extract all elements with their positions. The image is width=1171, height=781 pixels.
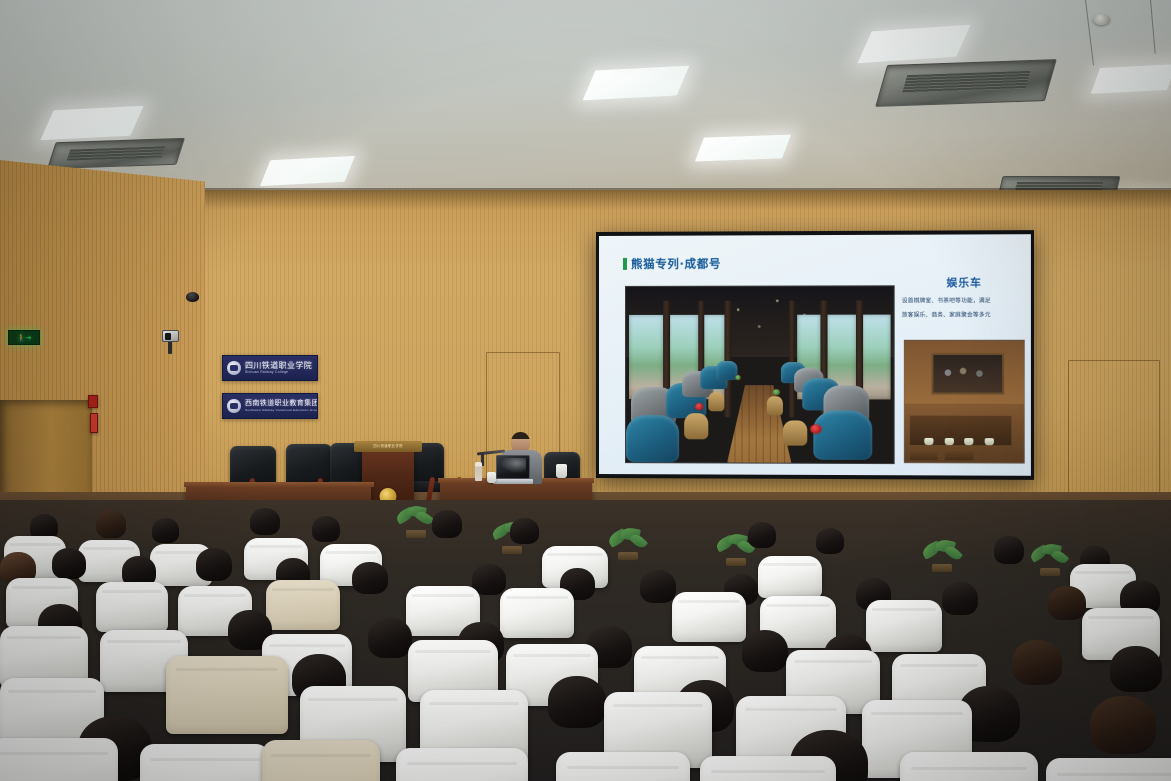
laptop-screen bbox=[496, 455, 530, 479]
audience-head bbox=[510, 518, 539, 544]
audience-head bbox=[942, 582, 978, 615]
plant-pot bbox=[1040, 568, 1059, 576]
audience-head bbox=[352, 562, 388, 594]
flower-arrangement bbox=[773, 389, 780, 395]
audience-seat-cream bbox=[262, 740, 380, 781]
head-table-left-top bbox=[184, 482, 374, 487]
plant-pot bbox=[726, 558, 745, 566]
emergency-exit-sign: 🚶→ bbox=[8, 330, 40, 345]
water-bottle bbox=[475, 462, 482, 481]
audience-seat bbox=[866, 600, 942, 652]
audience-seat-cream bbox=[266, 580, 340, 630]
ceiling-panel-light bbox=[695, 134, 791, 161]
lounge-side-table bbox=[767, 396, 783, 415]
plant-leaf bbox=[629, 532, 648, 551]
potted-plant bbox=[606, 528, 650, 560]
slide-title-accent-bar bbox=[623, 258, 627, 270]
potted-plant bbox=[1028, 544, 1072, 576]
audience-seat bbox=[500, 588, 574, 638]
audience-head bbox=[250, 508, 280, 535]
plant-leaf bbox=[1051, 548, 1070, 566]
camera-mount-arm bbox=[168, 340, 172, 354]
lounge-side-table bbox=[783, 420, 807, 445]
train-pillar bbox=[789, 301, 796, 417]
running-man-icon: 🚶→ bbox=[17, 334, 31, 342]
audience-head bbox=[432, 510, 462, 538]
tea-cup bbox=[944, 438, 953, 445]
audience-head bbox=[152, 518, 179, 543]
plant-leaf bbox=[944, 543, 963, 562]
flower-arrangement bbox=[695, 403, 703, 410]
ceiling-panel-light bbox=[583, 66, 690, 101]
laptop-keyboard[interactable] bbox=[493, 479, 533, 484]
podium-nameplate: 四川铁道职业学院 bbox=[354, 441, 422, 452]
tea-cup bbox=[985, 438, 994, 445]
ac-vent bbox=[875, 59, 1057, 107]
potted-plant bbox=[920, 540, 964, 572]
audience-head bbox=[52, 548, 86, 579]
slide-body-text: 设首棋牌室、书茶吧等功能，满足 旅客娱乐、商务、家庭聚会等多元 bbox=[902, 297, 1027, 325]
audience-seat-cream bbox=[166, 656, 288, 734]
audience-head bbox=[1048, 586, 1086, 620]
slide-body-line-2: 旅客娱乐、商务、家庭聚会等多元 bbox=[902, 311, 1027, 321]
ac-vent bbox=[47, 138, 185, 169]
camera-body bbox=[162, 330, 179, 342]
train-floor bbox=[727, 385, 791, 463]
audience-head bbox=[312, 516, 340, 542]
tea-room-bench bbox=[910, 449, 938, 460]
audience-head bbox=[748, 522, 776, 548]
smoke-detector bbox=[1093, 14, 1110, 25]
audience-area bbox=[0, 500, 1171, 781]
lounge-chair bbox=[813, 410, 872, 460]
projection-screen: 熊猫专列·成都号 bbox=[596, 230, 1034, 480]
group-emblem-icon bbox=[227, 399, 241, 413]
fire-extinguisher-box[interactable] bbox=[90, 413, 98, 433]
audience-head bbox=[96, 510, 126, 538]
camera-lens-icon bbox=[165, 333, 171, 340]
audience-head bbox=[1012, 640, 1062, 685]
lounge-side-table bbox=[684, 413, 708, 439]
dome-camera bbox=[186, 292, 199, 302]
slide-photo-train-lounge bbox=[625, 285, 895, 464]
wall-sign-college-cn: 四川铁道职业学院 bbox=[245, 362, 312, 370]
wall-sign-group: 西南铁道职业教育集团 Southwest Railway Vocational … bbox=[222, 393, 318, 419]
plant-pot bbox=[618, 552, 637, 560]
slide-body-line-1: 设首棋牌室、书茶吧等功能，满足 bbox=[902, 297, 1027, 307]
audience-seat bbox=[96, 582, 168, 632]
lounge-chair bbox=[626, 415, 679, 462]
audience-head bbox=[196, 548, 232, 581]
slide-title-row: 熊猫专列·成都号 bbox=[623, 256, 721, 272]
audience-head bbox=[1110, 646, 1162, 692]
audience-head bbox=[548, 676, 606, 728]
stage-chair bbox=[286, 444, 332, 486]
tea-cup bbox=[965, 438, 974, 445]
audience-head bbox=[472, 564, 506, 595]
ceiling-panel-light bbox=[260, 156, 355, 186]
college-emblem-icon bbox=[227, 361, 241, 375]
slide-photo-tea-room bbox=[904, 340, 1025, 464]
audience-head bbox=[368, 618, 412, 658]
audience-seat bbox=[0, 738, 118, 781]
drinking-cup bbox=[487, 472, 496, 483]
audience-seat bbox=[1046, 758, 1171, 781]
audience-head bbox=[1090, 696, 1156, 754]
lounge-side-table bbox=[708, 392, 724, 411]
security-camera bbox=[162, 330, 179, 352]
ceiling-panel-light bbox=[1091, 64, 1171, 94]
drinking-cup bbox=[556, 464, 567, 478]
wall-sign-group-cn: 西南铁道职业教育集团 bbox=[245, 400, 318, 407]
audience-seat bbox=[396, 748, 528, 781]
tea-room-bench bbox=[945, 449, 974, 460]
plant-pot bbox=[502, 546, 521, 554]
slide-title-text: 熊猫专列·成都号 bbox=[631, 256, 721, 272]
auditorium-scene: 🚶→ 四川铁道职业学院 Sichuan Railway College 西南铁道… bbox=[0, 0, 1171, 781]
audience-seat bbox=[672, 592, 746, 642]
flower-arrangement bbox=[735, 375, 740, 380]
slide-section-heading: 娱乐车 bbox=[902, 275, 1027, 291]
fire-alarm-box[interactable] bbox=[88, 395, 98, 408]
audience-head bbox=[742, 630, 788, 672]
audience-seat bbox=[700, 756, 836, 781]
tea-room-cabinet bbox=[931, 353, 1005, 394]
plant-pot bbox=[932, 564, 951, 572]
wall-sign-group-en: Southwest Railway Vocational Education G… bbox=[245, 409, 318, 412]
audience-seat bbox=[900, 752, 1038, 781]
audience-seat bbox=[758, 556, 822, 598]
audience-head bbox=[640, 570, 676, 603]
audience-seat bbox=[556, 752, 690, 781]
plant-pot bbox=[406, 530, 425, 538]
audience-seat bbox=[140, 744, 270, 781]
speaker-laptop[interactable] bbox=[496, 455, 530, 481]
presentation-slide: 熊猫专列·成都号 bbox=[599, 234, 1031, 476]
wall-sign-college: 四川铁道职业学院 Sichuan Railway College bbox=[222, 355, 318, 381]
train-window-right bbox=[861, 315, 891, 400]
flower-arrangement bbox=[810, 424, 821, 433]
tea-cup bbox=[924, 438, 933, 445]
train-pillar bbox=[724, 301, 731, 417]
ceiling-panel-light bbox=[40, 106, 143, 141]
wall-sign-college-en: Sichuan Railway College bbox=[245, 371, 312, 375]
audience-head bbox=[994, 536, 1024, 564]
tea-room-table bbox=[910, 414, 1012, 446]
audience-head bbox=[816, 528, 844, 554]
